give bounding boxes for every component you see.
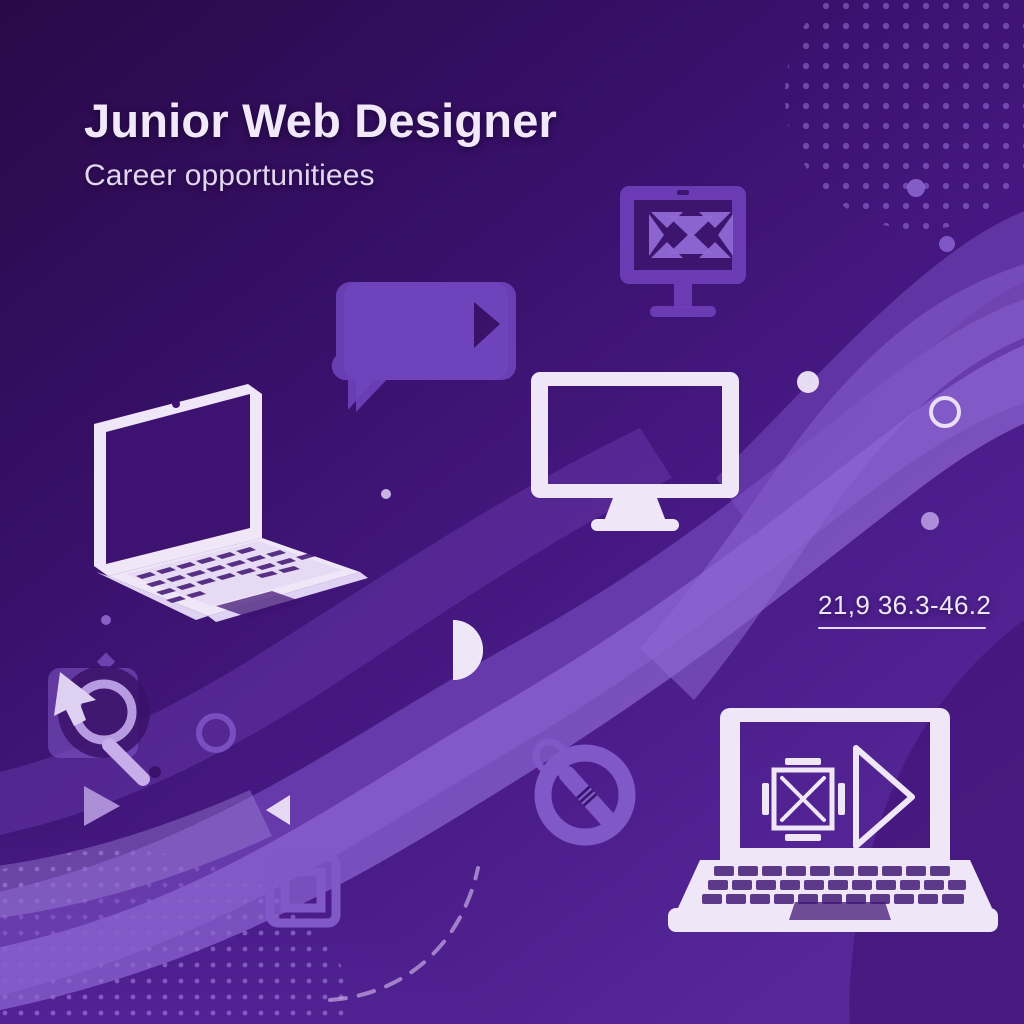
monitor-code-glyph	[649, 212, 733, 258]
decor-dot	[797, 371, 819, 393]
page-subtitle: Career opportunitiees	[84, 159, 557, 193]
decor-dot	[101, 615, 111, 625]
decor-dot	[381, 489, 391, 499]
stat-block: 21,9 36.3-46.2	[818, 590, 991, 629]
poster-canvas: Junior Web Designer Career opportunitiee…	[0, 0, 1024, 1024]
stat-value: 21,9 36.3-46.2	[818, 590, 991, 621]
decor-dot	[921, 512, 939, 530]
headline-block: Junior Web Designer Career opportunitiee…	[84, 96, 557, 193]
stat-underline	[818, 627, 986, 629]
page-title: Junior Web Designer	[84, 96, 557, 147]
decor-dot	[939, 236, 955, 252]
decor-dot	[907, 179, 925, 197]
